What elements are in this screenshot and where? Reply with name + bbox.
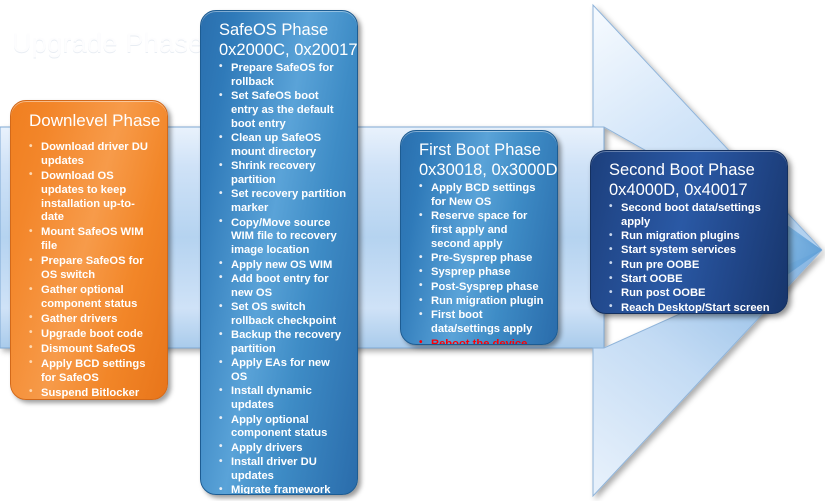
phase-title-firstboot: First Boot Phase xyxy=(419,141,547,160)
diagram-watermark-title: Upgrade Phases xyxy=(12,28,217,59)
phase-list-firstboot: Apply BCD settings for New OS Reserve sp… xyxy=(411,182,547,345)
list-item: Gather drivers xyxy=(27,313,157,327)
list-item: Sysprep phase xyxy=(417,266,547,280)
list-item: Apply optional component status xyxy=(217,414,347,442)
list-item: Set SafeOS boot entry as the default boo… xyxy=(217,90,347,131)
list-item: Apply drivers xyxy=(217,442,347,456)
list-item: Pre-Sysprep phase xyxy=(417,252,547,266)
phase-card-safeos[interactable]: SafeOS Phase 0x2000C, 0x20017 Prepare Sa… xyxy=(200,10,358,495)
list-item: Start system services xyxy=(607,244,777,258)
list-item: Shrink recovery partition xyxy=(217,160,347,188)
list-item: Run migration plugins xyxy=(607,230,777,244)
list-item: Suspend Bitlocker xyxy=(27,387,157,400)
list-item: Download driver DU updates xyxy=(27,141,157,169)
list-item: Apply BCD settings for SafeOS xyxy=(27,358,157,386)
list-item: Prepare SafeOS for OS switch xyxy=(27,255,157,283)
phase-title-safeos: SafeOS Phase xyxy=(219,21,347,40)
phase-card-downlevel[interactable]: Downlevel Phase Download driver DU updat… xyxy=(10,100,168,400)
list-item: Mount SafeOS WIM file xyxy=(27,226,157,254)
list-item: Run migration plugin xyxy=(417,295,547,309)
phase-card-firstboot[interactable]: First Boot Phase 0x30018, 0x3000D Apply … xyxy=(400,130,558,345)
list-item: Set recovery partition marker xyxy=(217,188,347,216)
list-item: Post-Sysprep phase xyxy=(417,281,547,295)
list-item: Backup the recovery partition xyxy=(217,329,347,357)
list-item: Reach Desktop/Start screen xyxy=(607,302,777,314)
list-item: Install dynamic updates xyxy=(217,385,347,413)
list-item: Download OS updates to keep installation… xyxy=(27,170,157,225)
list-item: Run post OOBE xyxy=(607,287,777,301)
phase-title-downlevel: Downlevel Phase xyxy=(29,111,157,131)
list-item: Dismount SafeOS xyxy=(27,343,157,357)
list-item: Apply BCD settings for New OS xyxy=(417,182,547,210)
list-item: Reserve space for first apply and second… xyxy=(417,210,547,251)
phase-list-secondboot: Second boot data/settings apply Run migr… xyxy=(601,202,777,314)
phase-code-secondboot: 0x4000D, 0x40017 xyxy=(609,181,777,200)
list-item: Install driver DU updates xyxy=(217,456,347,484)
list-item: Apply new OS WIM xyxy=(217,259,347,273)
list-item: Migrate framework (Full) xyxy=(217,484,347,495)
phase-list-safeos: Prepare SafeOS for rollback Set SafeOS b… xyxy=(211,62,347,495)
phase-code-firstboot: 0x30018, 0x3000D xyxy=(419,161,547,180)
list-item: Set OS switch rollback checkpoint xyxy=(217,301,347,329)
list-item-reboot: Reboot the device xyxy=(417,338,547,345)
list-item: First boot data/settings apply xyxy=(417,309,547,337)
list-item: Copy/Move source WIM file to recovery im… xyxy=(217,217,347,258)
list-item: Start OOBE xyxy=(607,273,777,287)
list-item: Second boot data/settings apply xyxy=(607,202,777,230)
phase-card-secondboot[interactable]: Second Boot Phase 0x4000D, 0x40017 Secon… xyxy=(590,150,788,314)
list-item: Upgrade boot code xyxy=(27,328,157,342)
upgrade-phases-diagram: Upgrade Phases Downlevel Phase Download … xyxy=(0,0,825,501)
phase-title-secondboot: Second Boot Phase xyxy=(609,161,777,180)
list-item: Prepare SafeOS for rollback xyxy=(217,62,347,90)
list-item: Clean up SafeOS mount directory xyxy=(217,132,347,160)
list-item: Apply EAs for new OS xyxy=(217,357,347,385)
list-item: Gather optional component status xyxy=(27,284,157,312)
phase-code-safeos: 0x2000C, 0x20017 xyxy=(219,41,347,60)
list-item: Add boot entry for new OS xyxy=(217,273,347,301)
list-item: Run pre OOBE xyxy=(607,259,777,273)
phase-list-downlevel: Download driver DU updates Download OS u… xyxy=(21,141,157,400)
